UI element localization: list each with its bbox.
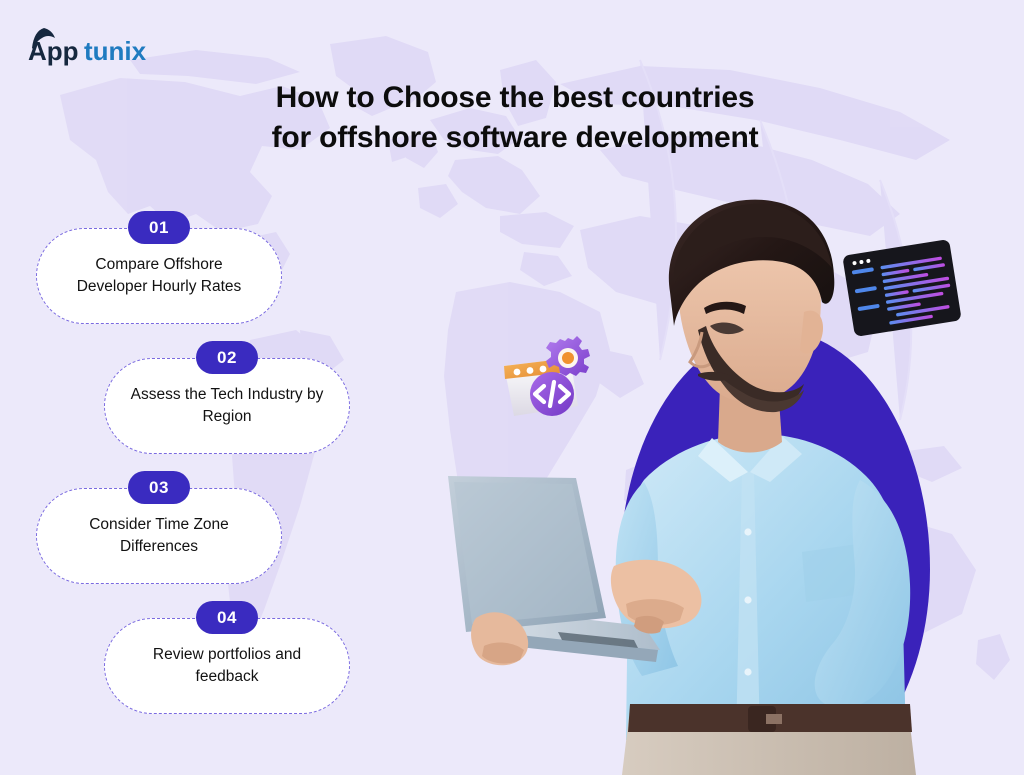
logo-text-app: App	[28, 36, 79, 66]
step-badge-1: 01	[128, 211, 190, 244]
code-browser-gear-icon	[492, 336, 596, 428]
logo-text-tunix: tunix	[84, 36, 147, 66]
step-card-3-label: Consider Time Zone Differences	[44, 514, 274, 558]
step-card-4-label: Review portfolios and feedback	[112, 644, 342, 688]
title-line-1: How to Choose the best countries	[150, 78, 880, 118]
person-trousers	[622, 704, 916, 775]
infographic-canvas: App tunix How to Choose the best countri…	[0, 0, 1024, 775]
step-card-2-label: Assess the Tech Industry by Region	[112, 384, 342, 428]
apptunix-logo[interactable]: App tunix	[22, 26, 182, 68]
step-card-1-label: Compare Offshore Developer Hourly Rates	[44, 254, 274, 298]
step-badge-4: 04	[196, 601, 258, 634]
step-badge-2: 02	[196, 341, 258, 374]
step-badge-3: 03	[128, 471, 190, 504]
page-title: How to Choose the best countries for off…	[150, 78, 880, 157]
person-head	[669, 200, 834, 413]
title-line-2: for offshore software development	[150, 118, 880, 158]
code-editor-window-icon	[840, 237, 964, 339]
